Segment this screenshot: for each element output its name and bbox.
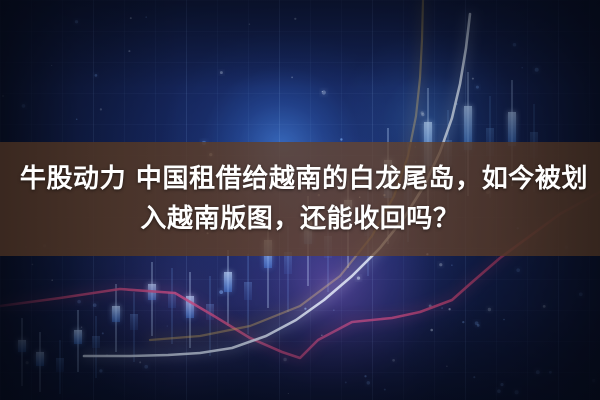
thumbnail-image: 牛股动力 中国租借给越南的白龙尾岛，如今被划 入越南版图，还能收回吗？ bbox=[0, 0, 600, 400]
title-line-2: 入越南版图，还能收回吗？ bbox=[140, 199, 459, 239]
title-line-1: 牛股动力 中国租借给越南的白龙尾岛，如今被划 bbox=[12, 159, 588, 199]
title-block: 牛股动力 中国租借给越南的白龙尾岛，如今被划 入越南版图，还能收回吗？ bbox=[0, 142, 600, 256]
